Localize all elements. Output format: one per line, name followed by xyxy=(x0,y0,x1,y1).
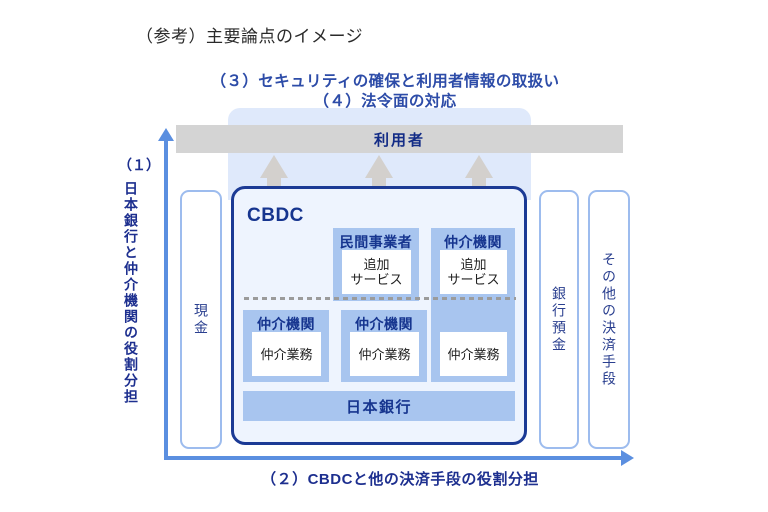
column-cash: 現金 xyxy=(180,190,222,449)
axis-shaft-vertical xyxy=(164,138,168,458)
box-intermediary-business-3: 仲介業務 xyxy=(440,332,507,376)
section-3-4-headings: （３）セキュリティの確保と利用者情報の取扱い （４）法令面の対応 xyxy=(180,72,590,112)
section-3-heading: （３）セキュリティの確保と利用者情報の取扱い xyxy=(180,72,590,92)
vertical-axis-arrow xyxy=(158,128,174,458)
flow-arrow-head xyxy=(365,155,393,178)
page-title: （参考）主要論点のイメージ xyxy=(136,22,363,47)
additional-service-line2: サービス xyxy=(350,272,402,287)
diagram-canvas: （参考）主要論点のイメージ （３）セキュリティの確保と利用者情報の取扱い （４）… xyxy=(0,0,768,512)
bank-of-japan-bar: 日本銀行 xyxy=(243,391,515,421)
box-additional-service-intermediary: 追加 サービス xyxy=(440,250,507,294)
users-bar: 利用者 xyxy=(176,125,623,153)
section-1-label: （１） 日本銀行と仲介機関の役割分担 xyxy=(118,155,144,408)
bank-of-japan-label: 日本銀行 xyxy=(346,396,412,417)
horizontal-axis-arrow xyxy=(164,450,634,466)
column-cash-label: 現金 xyxy=(194,303,208,337)
additional-service-line1: 追加 xyxy=(350,257,402,272)
zone-separator-dashed-line xyxy=(244,297,516,300)
box-intermediary-business-1: 仲介業務 xyxy=(252,332,321,376)
entity-intermediary-top-head: 仲介機関 xyxy=(431,228,515,252)
cbdc-label: CBDC xyxy=(247,205,304,227)
box-additional-service-private: 追加 サービス xyxy=(342,250,411,294)
section-2-label: （２）CBDCと他の決済手段の役割分担 xyxy=(200,468,600,489)
entity-intermediary-1-head: 仲介機関 xyxy=(243,310,329,334)
box-intermediary-business-2: 仲介業務 xyxy=(350,332,419,376)
users-bar-label: 利用者 xyxy=(374,129,425,150)
flow-arrow-head xyxy=(465,155,493,178)
section-1-text: 日本銀行と仲介機関の役割分担 xyxy=(124,181,138,405)
axis-shaft-horizontal xyxy=(164,456,623,460)
additional-service-line2: サービス xyxy=(447,272,499,287)
flow-arrow-head xyxy=(260,155,288,178)
entity-intermediary-2-head: 仲介機関 xyxy=(341,310,427,334)
entity-private-operator-head: 民間事業者 xyxy=(333,228,419,252)
column-bank-deposit-label: 銀行預金 xyxy=(552,286,566,354)
column-other-payment-label: その他の決済手段 xyxy=(602,252,616,388)
column-bank-deposit: 銀行預金 xyxy=(539,190,579,449)
column-other-payment: その他の決済手段 xyxy=(588,190,630,449)
axis-arrow-head-right xyxy=(621,450,634,466)
additional-service-line1: 追加 xyxy=(447,257,499,272)
section-1-number: （１） xyxy=(118,155,144,175)
